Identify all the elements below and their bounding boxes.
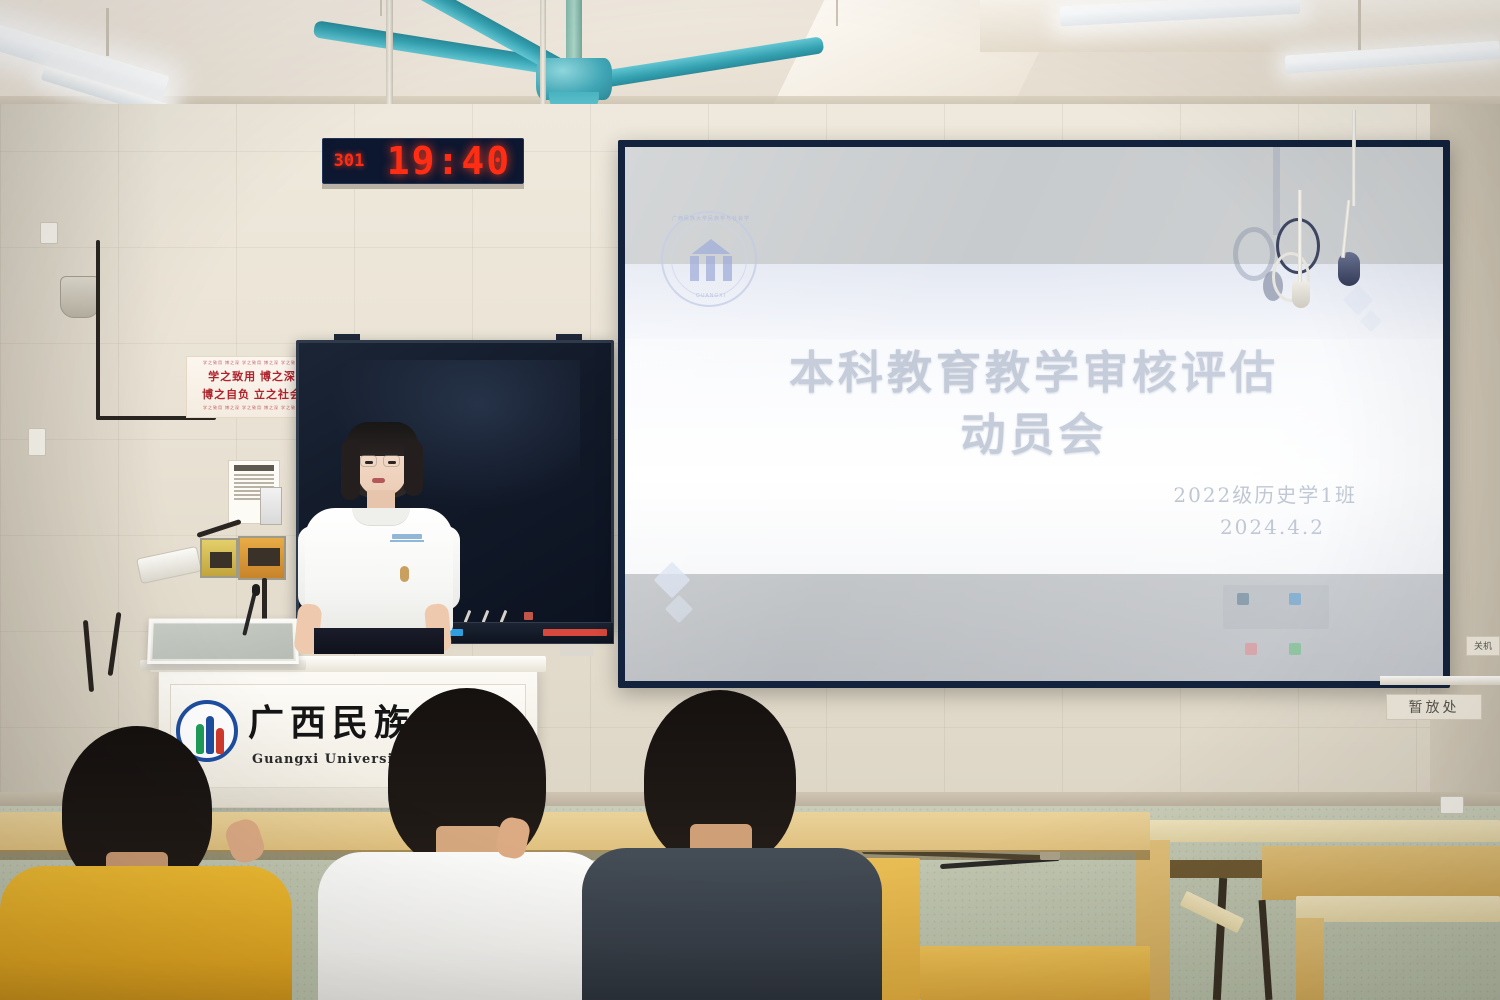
storage-area-sign: 暂放处 (1386, 694, 1482, 720)
wall-outlet[interactable] (40, 222, 58, 244)
clock-bracket (322, 184, 524, 189)
light-hanger (106, 8, 109, 56)
presenter-glasses-right (383, 455, 400, 467)
bench-seat-right-front (920, 946, 1150, 1000)
hanging-mic-cable-white (1298, 190, 1302, 282)
presenter-shirt-pocket (390, 540, 424, 566)
wall-control-switch-box[interactable] (260, 487, 282, 525)
light-hanger-right (1358, 0, 1361, 50)
presenter-trousers (314, 628, 444, 654)
student-shirt (318, 852, 610, 1000)
slide-title-line-1: 本科教育教学审核评估 (625, 342, 1443, 404)
folder-icon (1289, 593, 1301, 605)
wall-outlet-right[interactable] (1440, 796, 1464, 814)
fan-wire-right (836, 0, 838, 26)
projection-screen: 广西民族大学民族学与社会学 GUANGXI 本科教育教学审核评估 动员会 (625, 147, 1443, 681)
bench-side-right (1296, 918, 1324, 1000)
fan-wire-left (380, 0, 382, 16)
student-shirt (0, 866, 292, 1000)
podium-university-name-cn: 广西民族 (248, 694, 416, 746)
right-small-sign: 关机 (1466, 636, 1500, 656)
student-shirt (582, 848, 882, 1000)
desk-backrest-right (1262, 846, 1500, 900)
hanging-mic-head-white[interactable] (1292, 278, 1310, 308)
gooseneck-microphone-head[interactable] (252, 584, 260, 596)
bench-seat-right (1296, 896, 1500, 922)
presenter-shirt-logo (392, 534, 422, 539)
presenter-hair-right (404, 440, 423, 496)
smartboard-pen-tray (462, 610, 532, 622)
chat-icon (1289, 643, 1301, 655)
presenter-mouth (372, 478, 385, 483)
placard-line (234, 478, 274, 480)
wall-outlet-low[interactable] (28, 428, 46, 456)
podium-laptop[interactable] (147, 619, 299, 664)
classroom-photo-scene: 学之致用 博之深 学之致用 博之深 学之致用 学之致用 博之深 博之自负 立之社… (0, 0, 1500, 1000)
placard-heading (234, 465, 274, 471)
smartboard-sticker (560, 644, 594, 656)
digital-clock: 301 19:40 (322, 138, 524, 184)
media-icon (1245, 643, 1257, 655)
wall-conduit (96, 240, 100, 420)
logo-flame (196, 716, 226, 754)
presenter-collar (352, 508, 410, 526)
slide-title: 本科教育教学审核评估 动员会 (625, 342, 1443, 466)
projected-taskbar (1223, 585, 1329, 629)
projection-screen-frame: 广西民族大学民族学与社会学 GUANGXI 本科教育教学审核评估 动员会 (618, 140, 1450, 688)
laptop-screen (152, 623, 293, 659)
clock-room-number: 301 (323, 151, 375, 171)
browser-icon (1237, 593, 1249, 605)
presenter-glasses-left (360, 455, 377, 467)
placard-line (234, 482, 274, 484)
wall-shadow (0, 104, 160, 824)
placard-line (234, 474, 274, 476)
ceiling-fan-rod (566, 0, 582, 66)
university-seal-logo: 广西民族大学民族学与社会学 GUANGXI (661, 211, 757, 307)
smartboard-strip-label-right (543, 629, 607, 636)
seal-bottom-text: GUANGXI (663, 293, 759, 299)
breaker-panel-left[interactable] (200, 538, 238, 578)
wall-speaker (60, 276, 100, 318)
desk-top-right (1136, 820, 1500, 842)
wall-conduit-down (262, 578, 267, 624)
breaker-panel-right[interactable] (238, 536, 286, 580)
right-shelf (1380, 676, 1500, 685)
slide-title-line-2: 动员会 (625, 404, 1443, 466)
clock-time: 19:40 (375, 139, 523, 183)
slide-subtitle-class: 2022级历史学1班 (1173, 479, 1357, 508)
hanging-mic-cable (1352, 110, 1356, 206)
mic-shadow-cable (1273, 147, 1280, 235)
presenter-hair-left (341, 440, 360, 500)
slide-subtitle-date: 2024.4.2 (1220, 515, 1325, 539)
presenter-shirt-charm (400, 566, 409, 582)
seal-top-text: 广西民族大学民族学与社会学 (663, 215, 759, 222)
seal-monogram (689, 239, 733, 281)
